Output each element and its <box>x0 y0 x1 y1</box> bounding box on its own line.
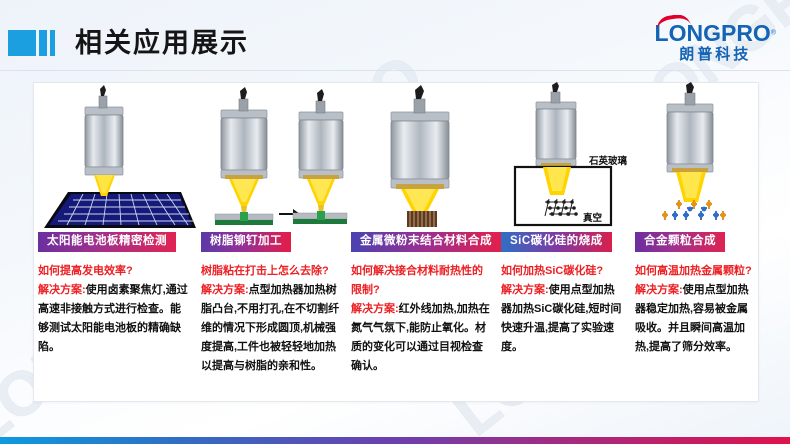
illustration-solar-panel <box>38 82 191 230</box>
badge-row: 树脂铆钉加工 <box>201 230 341 254</box>
footer-gradient-bar <box>0 437 790 444</box>
badge-row: SiC碳化硅的烧成 <box>501 230 625 254</box>
application-column: 树脂铆钉加工 树脂粘在打击上怎么去除? 解决方案:点型加热器加热树脂凸台,不用打… <box>196 82 346 400</box>
solution-label: 解决方案: <box>351 303 399 315</box>
badge-row: 太阳能电池板精密检测 <box>38 230 191 254</box>
category-badge: SiC碳化硅的烧成 <box>501 232 612 253</box>
category-badge: 太阳能电池板精密检测 <box>38 232 176 253</box>
solution-label: 解决方案: <box>201 284 249 296</box>
header-divider <box>0 70 790 71</box>
question-text: 如何提高发电效率? <box>38 262 191 281</box>
page-title: 相关应用展示 <box>75 30 249 57</box>
slide-header: 相关应用展示 <box>0 26 249 60</box>
illustration-metal-powder <box>351 82 491 230</box>
column-body: 如何加热SiC碳化硅? 解决方案:使用点型加热器加热SiC碳化硅,短时间快速升温… <box>501 262 625 357</box>
column-body: 树脂粘在打击上怎么去除? 解决方案:点型加热器加热树脂凸台,不用打孔,在不切割纤… <box>201 262 341 375</box>
solution-label: 解决方案: <box>38 284 86 296</box>
application-columns: 太阳能电池板精密检测 如何提高发电效率? 解决方案:使用卤素聚焦灯,通过高速非接… <box>33 82 757 400</box>
illustration-resin-rivet <box>201 82 341 230</box>
label-quartz-glass: 石英玻璃 <box>588 155 628 167</box>
question-text: 树脂粘在打击上怎么去除? <box>201 262 341 281</box>
registered-mark: ® <box>771 30 776 37</box>
application-column: 合金颗粒合成 如何高温加热金属颗粒? 解决方案:使用点型加热器稳定加热,容易被金… <box>630 82 757 400</box>
solution-label: 解决方案: <box>635 284 683 296</box>
illustration-sic-vacuum: 石英玻璃 真空 <box>501 82 625 230</box>
question-text: 如何加热SiC碳化硅? <box>501 262 625 281</box>
brand-logo: LONGPRO® 朗普科技 <box>655 22 776 62</box>
question-text: 如何解决接合材料耐热性的限制? <box>351 262 491 300</box>
badge-row: 金属微粉末结合材料合成 <box>351 230 491 254</box>
badge-row: 合金颗粒合成 <box>635 230 752 254</box>
illustration-alloy-particles <box>635 82 752 230</box>
solution-label: 解决方案: <box>501 284 549 296</box>
logo-subtitle: 朗普科技 <box>655 47 776 62</box>
question-text: 如何高温加热金属颗粒? <box>635 262 752 281</box>
application-column: 金属微粉末结合材料合成 如何解决接合材料耐热性的限制? 解决方案:红外线加热,加… <box>346 82 496 400</box>
label-vacuum: 真空 <box>583 212 603 224</box>
logo-swoosh-icon <box>657 15 691 28</box>
category-badge: 金属微粉末结合材料合成 <box>351 232 501 253</box>
category-badge: 合金颗粒合成 <box>635 232 725 253</box>
application-column: 太阳能电池板精密检测 如何提高发电效率? 解决方案:使用卤素聚焦灯,通过高速非接… <box>33 82 196 400</box>
application-column: 石英玻璃 真空 SiC碳化硅的烧成 如何加热SiC碳化硅? 解决方案:使用点型加… <box>496 82 630 400</box>
column-body: 如何解决接合材料耐热性的限制? 解决方案:红外线加热,加热在氮气气氛下,能防止氧… <box>351 262 491 375</box>
column-body: 如何高温加热金属颗粒? 解决方案:使用点型加热器稳定加热,容易被金属吸收。并且瞬… <box>635 262 752 357</box>
category-badge: 树脂铆钉加工 <box>201 232 291 253</box>
accent-bars-icon <box>8 30 55 56</box>
solution-text: 点型加热器加热树脂凸台,不用打孔,在不切割纤维的情况下形成圆顶,机械强度提高,工… <box>201 284 339 372</box>
column-body: 如何提高发电效率? 解决方案:使用卤素聚焦灯,通过高速非接触方式进行检查。能够测… <box>38 262 191 357</box>
